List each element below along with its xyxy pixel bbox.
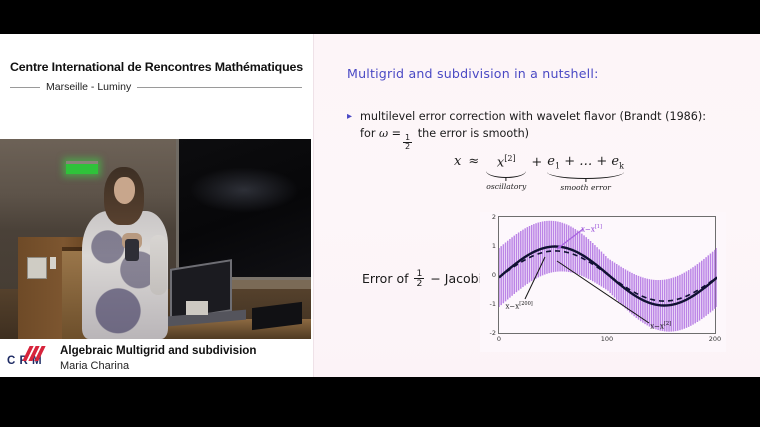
bullet-line-1: multilevel error correction with wavelet… [360,110,706,123]
bullet-marker-icon: ▸ [347,109,352,124]
bullet-text: multilevel error correction with wavelet… [360,108,706,151]
annotation-x-x2: x−x[2] [650,321,671,330]
smooth-error-caption: smooth error [560,183,611,192]
talk-title: Algebraic Multigrid and subdivision [60,344,256,357]
slide-title: Multigrid and subdivision in a nutshell: [347,66,599,81]
fraction-denominator: 2 [403,142,412,151]
oscillatory-sup: [2] [504,154,515,163]
institute-location: Marseille - Luminy [46,81,131,93]
equation: x ≈ x[2] oscillatory + e1 + … + ek smoot… [454,154,624,192]
rule-right [137,87,302,88]
underbrace-smooth-icon [547,172,624,179]
video-speaker-arm [150,235,167,295]
plus-symbol: + [531,154,542,170]
plot-curves [499,217,717,335]
video-paper [186,301,208,315]
institute-location-row: Marseille - Luminy [10,80,302,94]
video-speaker-face [114,177,135,204]
bullet-line-2-pre: for [360,127,375,140]
oscillatory-group: x[2] oscillatory [486,154,526,191]
letterbox-bottom [0,377,760,427]
cirm-header: Centre International de Rencontres Mathé… [0,34,313,105]
video-clicker [125,239,139,261]
y-tick-3: -1 [490,300,496,308]
oscillatory-expr: x[2] [497,154,516,170]
oscillatory-caption: oscillatory [486,182,526,191]
smooth-error-group: e1 + … + ek smooth error [547,154,624,192]
error-fraction-denominator: 2 [414,278,424,288]
exit-sign-icon [66,161,98,174]
y-tick-2: 0 [492,271,496,279]
one-half-fraction: 12 [403,134,412,151]
video-screen-glow [189,167,299,213]
letterbox-top [0,0,760,34]
speaker-video[interactable] [0,139,311,339]
slide-panel: Multigrid and subdivision in a nutshell:… [313,34,760,377]
equation-lhs: x [454,154,461,169]
rule-left [10,87,40,88]
plot-axes: 2 1 0 -1 -2 0 100 200 x−x[1] x−x[200] x−… [498,216,716,334]
content-band: Centre International de Rencontres Mathé… [0,34,760,377]
approx-symbol: ≈ [468,154,479,169]
video-light-switch [50,257,56,269]
fraction-numerator: 1 [403,134,412,142]
x-tick-1: 100 [601,335,613,343]
talk-info-block: C R M Algebraic Multigrid and subdivisio… [0,339,313,377]
error-fraction-numerator: 1 [414,269,424,278]
y-tick-4: -2 [490,329,496,337]
error-plot: 2 1 0 -1 -2 0 100 200 x−x[1] x−x[200] x−… [480,212,726,352]
underbrace-oscillatory-icon [486,171,526,178]
video-wall-plate [27,257,47,279]
x-tick-0: 0 [497,335,501,343]
bullet-line-2-post: the error is smooth) [418,127,529,140]
screenshot-stage: Centre International de Rencontres Mathé… [0,0,760,427]
smooth-error-expr: e1 + … + ek [547,154,624,171]
left-panel: Centre International de Rencontres Mathé… [0,34,313,377]
y-tick-0: 2 [492,213,496,221]
annotation-x-x1: x−x[1] [581,224,602,233]
cirm-logo: C R M [7,344,55,370]
y-tick-1: 1 [492,242,496,250]
ek-sub: k [619,162,624,171]
x-tick-2: 200 [709,335,721,343]
error-label-pre: Error of [362,271,409,286]
video-projection-screen [176,139,311,280]
error-half-fraction: 12 [414,269,424,289]
annotation-x-x200: x−x[200] [505,301,532,310]
institute-name: Centre International de Rencontres Mathé… [10,60,303,74]
omega-symbol: ω [379,127,388,140]
e1-sub: 1 [555,162,560,171]
error-label: Error of 12 − Jacobi [362,269,482,289]
talk-speaker: Maria Charina [60,360,129,372]
slide-bullet: ▸ multilevel error correction with wavel… [347,108,747,151]
error-label-post: − Jacobi [430,271,482,286]
equals-symbol: = [392,127,401,140]
e1-base: e [547,154,555,169]
ek-base: e [611,154,619,169]
ellipsis-term: + … + [564,154,607,169]
